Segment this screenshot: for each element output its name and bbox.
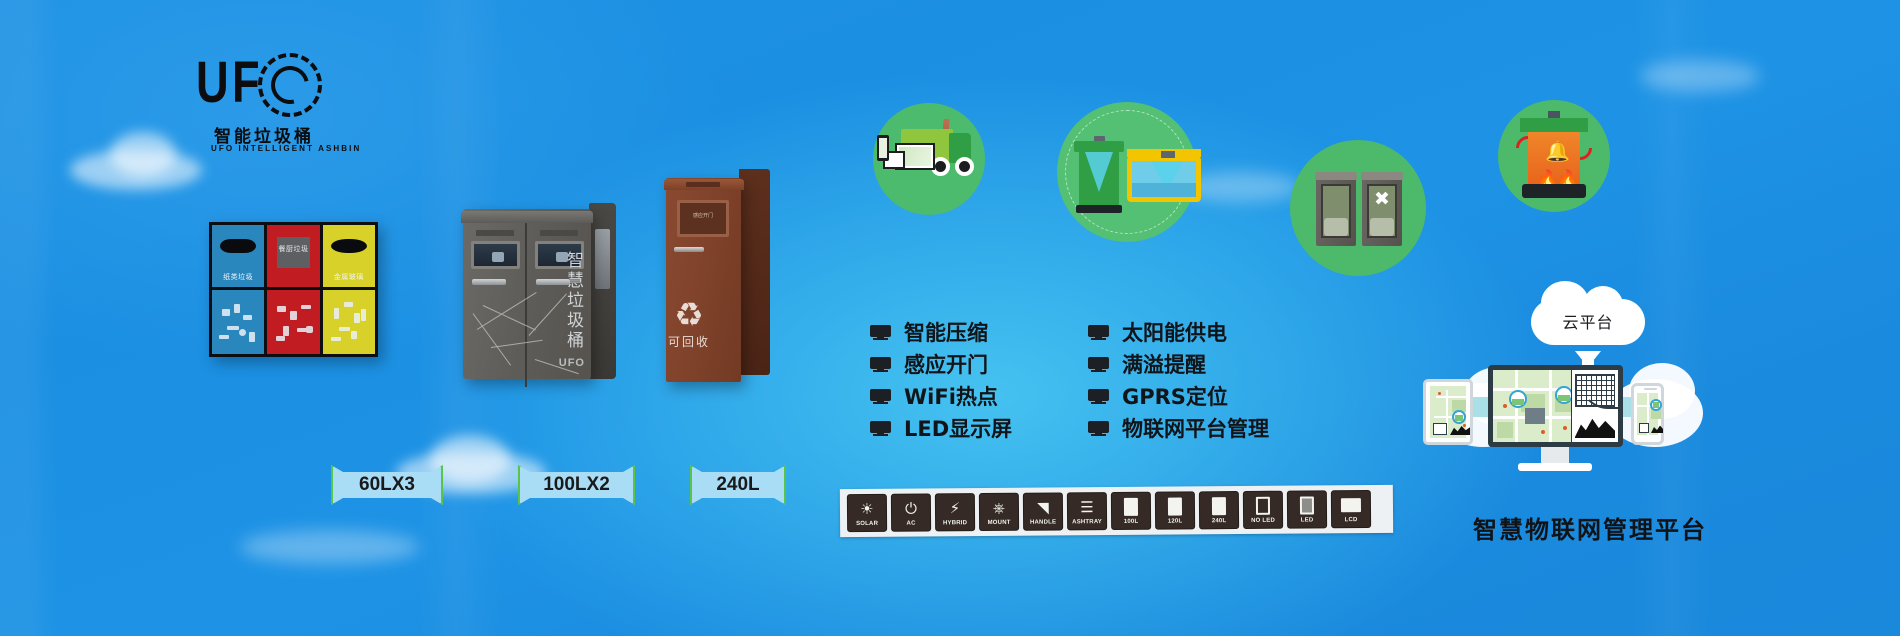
bin-100l-icon xyxy=(1118,496,1144,518)
spec-chip-label: LCD xyxy=(1345,516,1358,524)
spec-chip-no-led[interactable]: NO LED xyxy=(1243,491,1283,529)
plug-icon: ⏻ xyxy=(898,498,924,520)
spec-chip-label: ASHTRAY xyxy=(1072,518,1102,526)
platform-caption: 智慧物联网管理平台 xyxy=(1440,510,1740,545)
line-chart-grid xyxy=(1575,374,1616,407)
no-led-icon xyxy=(1250,495,1276,517)
garbage-truck-icon xyxy=(873,103,985,215)
capacity-banner-60lx3: 60LX3 xyxy=(331,465,443,505)
feature-circle-fill-level-sensing xyxy=(1057,102,1197,242)
sensor-bin-icon xyxy=(1079,150,1119,206)
monitor-base xyxy=(1518,463,1592,471)
feature-label: 太阳能供电 xyxy=(1122,317,1227,347)
spec-chip-label: 120L xyxy=(1168,517,1183,525)
feature-label: LED显示屏 xyxy=(904,413,1012,443)
mount-icon: ⎈ xyxy=(986,497,1012,519)
area-chart-graphic xyxy=(1575,412,1616,438)
twin-compaction-bin-icon: ✖ xyxy=(1362,172,1402,246)
compartment-graphic xyxy=(212,290,264,355)
feature-circle-fleet-management xyxy=(873,103,985,215)
spec-chip-240l[interactable]: 240L xyxy=(1199,491,1239,529)
spec-chip-label: HANDLE xyxy=(1030,518,1056,526)
product-three-colour-bin: 纸类垃圾 餐厨垃圾 xyxy=(209,222,378,357)
compartment-label: 餐厨垃圾 xyxy=(277,244,311,254)
spec-chip-mount[interactable]: ⎈ MOUNT xyxy=(979,493,1019,531)
logo-english-name: UFO INTELLIGENT ASHBIN xyxy=(211,144,361,153)
monitor-icon xyxy=(1088,389,1109,404)
spec-chip-label: 240L xyxy=(1212,517,1227,525)
device-desktop-monitor xyxy=(1488,365,1623,447)
monitor-icon xyxy=(870,325,891,340)
spec-chip-label: LED xyxy=(1301,516,1314,524)
compartment-graphic xyxy=(323,290,375,355)
compartment-opening: 餐厨垃圾 xyxy=(267,225,319,290)
spec-chip-label: HYBRID xyxy=(943,519,967,527)
recycle-label: 可回收 xyxy=(666,333,712,350)
monitor-icon xyxy=(1088,325,1109,340)
feature-label: 满溢提醒 xyxy=(1122,349,1206,379)
feature-item: 物联网平台管理 xyxy=(1088,412,1269,444)
compartment-graphic xyxy=(267,290,319,355)
product-twin-smart-bin: 智慧垃圾桶 UFO xyxy=(463,199,616,379)
litter-graphic xyxy=(212,290,264,355)
spec-chip-label: SOLAR xyxy=(856,520,878,528)
logo-wordmark: U F xyxy=(196,52,328,118)
cloud-platform-badge: 云平台 xyxy=(1531,299,1645,345)
handle-icon: ◥ xyxy=(1030,496,1056,518)
feature-item: LED显示屏 xyxy=(870,412,1012,444)
tablet-screen xyxy=(1430,386,1466,438)
truck-hopper-icon xyxy=(1127,156,1201,202)
capacity-banner-240l: 240L xyxy=(690,465,786,505)
feature-label: 感应开门 xyxy=(904,349,988,379)
cloud-platform-label: 云平台 xyxy=(1531,309,1645,333)
feature-item: 感应开门 xyxy=(870,348,1012,380)
bin-screen-line1: 感应开门 xyxy=(680,212,726,220)
spec-chip-label: MOUNT xyxy=(988,519,1011,527)
spec-chip-ashtray[interactable]: ☰ ASHTRAY xyxy=(1067,492,1107,530)
bin-screen: 感应开门 xyxy=(677,200,729,237)
cloud-decoration xyxy=(70,150,202,190)
spec-chip-solar[interactable]: ☀ SOLAR xyxy=(847,494,887,532)
device-tablet xyxy=(1423,379,1473,445)
twin-compaction-bin-icon xyxy=(1316,172,1356,246)
spec-chip-ac[interactable]: ⏻ AC xyxy=(891,493,931,531)
fire-alarm-bin-icon: 🔔 🔥 🔥 xyxy=(1528,130,1580,186)
feature-item: 太阳能供电 xyxy=(1088,316,1269,348)
feature-circle-compaction: ✖ xyxy=(1290,140,1426,276)
lcd-icon xyxy=(1338,494,1364,516)
monitor-chart-pane xyxy=(1571,370,1619,442)
banner-canvas: U F 智能垃圾桶 UFO INTELLIGENT ASHBIN 纸类垃圾 xyxy=(0,0,1900,636)
spec-chip-label: AC xyxy=(907,520,916,528)
led-icon xyxy=(1294,494,1320,516)
feature-label: 物联网平台管理 xyxy=(1122,413,1269,443)
ufo-logo: U F 智能垃圾桶 UFO INTELLIGENT ASHBIN xyxy=(196,52,328,157)
cloud-decoration xyxy=(110,132,176,176)
product-brown-bin: 感应开门 ♻ 可回收 xyxy=(666,169,770,382)
feature-label: GPRS定位 xyxy=(1122,381,1228,411)
bin-side-panel xyxy=(589,203,616,379)
compartment-opening: 金属玻璃 xyxy=(323,225,375,290)
monitor-icon xyxy=(1088,357,1109,372)
feature-column-right: 太阳能供电 满溢提醒 GPRS定位 物联网平台管理 xyxy=(1088,316,1269,444)
map-pin-icon xyxy=(1452,410,1466,424)
bin-body: 感应开门 ♻ 可回收 xyxy=(666,178,741,382)
feature-item: WiFi热点 xyxy=(870,380,1012,412)
monitor-map-pane xyxy=(1493,370,1571,442)
spec-chip-120l[interactable]: 120L xyxy=(1155,491,1195,529)
spec-chip-label: NO LED xyxy=(1251,517,1275,525)
spec-icon-strip: ☀ SOLAR ⏻ AC ⚡ HYBRID ⎈ MOUNT ◥ HANDLE ☰… xyxy=(840,485,1393,537)
spec-chip-lcd[interactable]: LCD xyxy=(1331,490,1371,528)
phone-speaker xyxy=(1644,388,1657,390)
spec-chip-100l[interactable]: 100L xyxy=(1111,492,1151,530)
cloud-decoration xyxy=(1640,60,1760,92)
hybrid-icon: ⚡ xyxy=(942,497,968,519)
bin-compartment-metal-glass: 金属玻璃 xyxy=(323,225,375,354)
feature-item: GPRS定位 xyxy=(1088,380,1269,412)
spec-chip-led[interactable]: LED xyxy=(1287,490,1327,528)
bin-240l-icon xyxy=(1206,495,1232,517)
logo-letter-u: U xyxy=(196,54,229,112)
feature-column-left: 智能压缩 感应开门 WiFi热点 LED显示屏 xyxy=(870,316,1012,444)
bin-side-panel xyxy=(739,169,770,375)
spec-chip-hybrid[interactable]: ⚡ HYBRID xyxy=(935,493,975,531)
bin-lid xyxy=(664,179,744,190)
litter-graphic xyxy=(267,290,319,355)
bin-body: 智慧垃圾桶 UFO xyxy=(463,209,591,379)
phone-screen xyxy=(1637,393,1658,435)
spec-chip-handle[interactable]: ◥ HANDLE xyxy=(1023,492,1063,530)
cloud-platform-illustration: 云平台 xyxy=(1423,305,1753,480)
capacity-banner-100lx2: 100LX2 xyxy=(518,465,635,505)
waste-slot xyxy=(220,239,256,254)
feature-label: WiFi热点 xyxy=(904,381,998,411)
bin-compartment-kitchen: 餐厨垃圾 xyxy=(267,225,322,354)
waste-slot xyxy=(331,239,367,254)
monitor-icon xyxy=(870,421,891,436)
recycle-symbol-icon: ♻ xyxy=(666,298,712,331)
logo-gear-o-icon xyxy=(258,53,322,117)
compartment-label: 金属玻璃 xyxy=(323,272,375,282)
ashtray-icon: ☰ xyxy=(1074,496,1100,518)
feature-circle-fire-alarm: 🔔 🔥 🔥 xyxy=(1498,100,1610,212)
bin-body-text: 智慧垃圾桶 xyxy=(565,251,587,351)
bin-120l-icon xyxy=(1162,495,1188,517)
feature-label: 智能压缩 xyxy=(904,317,988,347)
feature-item: 满溢提醒 xyxy=(1088,348,1269,380)
litter-graphic xyxy=(323,290,375,355)
spec-chip-label: 100L xyxy=(1124,518,1139,526)
bin-compartment-paper: 纸类垃圾 xyxy=(212,225,267,354)
feature-item: 智能压缩 xyxy=(870,316,1012,348)
compartment-label: 纸类垃圾 xyxy=(212,272,264,282)
cloud-decoration xyxy=(240,530,420,564)
device-smartphone xyxy=(1631,383,1664,445)
monitor-icon xyxy=(870,357,891,372)
compartment-opening: 纸类垃圾 xyxy=(212,225,264,290)
monitor-icon xyxy=(870,389,891,404)
monitor-icon xyxy=(1088,421,1109,436)
kitchen-panel: 餐厨垃圾 xyxy=(274,234,314,271)
bin-logo-text: UFO xyxy=(559,357,585,369)
logo-letter-f: F xyxy=(232,54,260,112)
sun-icon: ☀ xyxy=(854,498,880,520)
map-pin-icon xyxy=(1509,390,1527,408)
map-pin-icon xyxy=(1650,399,1662,411)
bin-handle xyxy=(674,247,704,252)
bin-led-strip xyxy=(595,229,610,289)
